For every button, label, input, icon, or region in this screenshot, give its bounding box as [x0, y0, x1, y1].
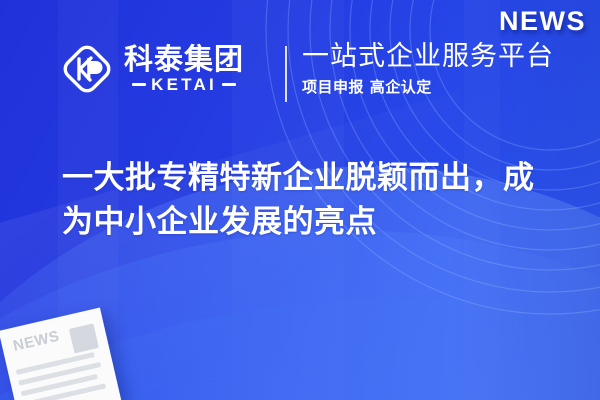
tagline-sub: 项目申报 高企认定: [302, 76, 554, 97]
brand-name-english-row: KETAI: [124, 76, 244, 93]
image-placeholder-icon: [69, 323, 99, 353]
news-banner: 科泰集团 KETAI 一站式企业服务平台 项目申报 高企认定 NEWS 一大批专…: [0, 0, 600, 400]
brand-name-english: KETAI: [151, 76, 217, 93]
right-dash-decoration: [222, 83, 236, 86]
tagline-main: 一站式企业服务平台: [302, 42, 554, 72]
banner-header: 科泰集团 KETAI 一站式企业服务平台 项目申报 高企认定 NEWS: [0, 0, 600, 120]
news-label: NEWS: [499, 6, 586, 37]
ketai-diamond-kp-logo-icon: [60, 42, 114, 96]
newspaper-text-lines: [16, 351, 112, 400]
brand-wordmark: 科泰集团 KETAI: [124, 45, 244, 93]
brand-name-chinese: 科泰集团: [124, 45, 244, 74]
brand-lockup: 科泰集团 KETAI: [60, 42, 244, 96]
header-vertical-divider: [285, 46, 287, 102]
left-dash-decoration: [132, 83, 146, 86]
page-title: 一大批专精特新企业脱颖而出，成为中小企业发展的亮点: [62, 156, 562, 244]
tagline-block: 一站式企业服务平台 项目申报 高企认定: [302, 42, 554, 97]
